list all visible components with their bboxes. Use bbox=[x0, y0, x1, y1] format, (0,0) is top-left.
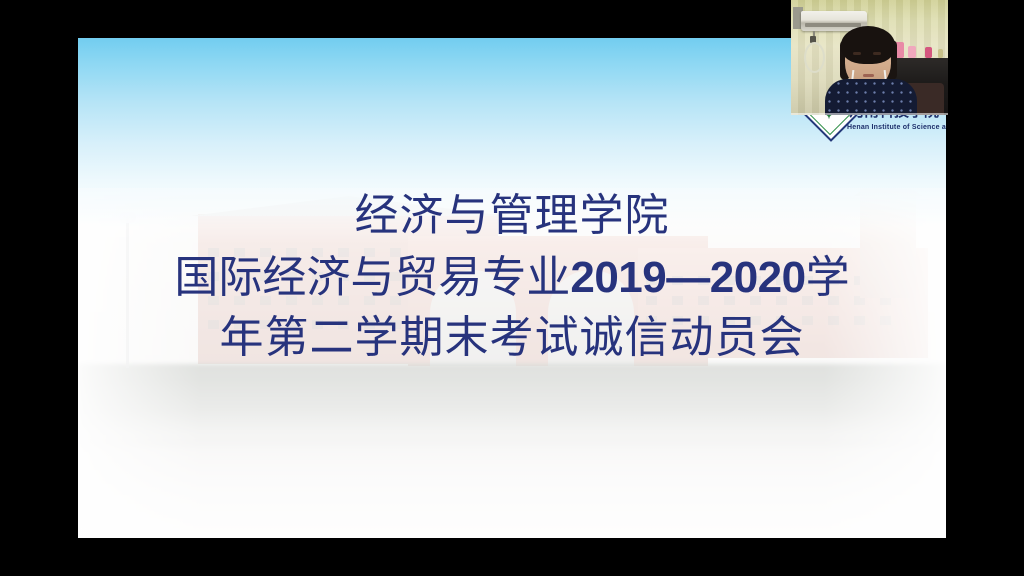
eye-left bbox=[853, 52, 861, 55]
hanging-hoop bbox=[804, 42, 825, 73]
presenter-hair bbox=[841, 26, 895, 64]
shelf-item bbox=[908, 46, 916, 58]
photo-fade-overlay bbox=[78, 188, 946, 538]
mouth bbox=[863, 74, 874, 77]
title-line-2-suffix: 学 bbox=[806, 253, 850, 302]
presenter-video-tile[interactable] bbox=[791, 0, 948, 115]
campus-building-photo bbox=[78, 188, 946, 538]
screen-share-view: 河南科技学院 Henan Institute of Science and Te… bbox=[0, 0, 1024, 576]
title-line-1: 经济与管理学院 bbox=[78, 194, 946, 238]
title-line-2: 国际经济与贸易专业2019—2020学 bbox=[78, 256, 946, 300]
title-academic-years: 2019—2020 bbox=[570, 253, 805, 302]
ac-vent bbox=[805, 23, 861, 27]
title-line-2-prefix: 国际经济与贸易专业 bbox=[174, 253, 570, 302]
shelf-item bbox=[925, 47, 932, 58]
presenter-shirt-pattern bbox=[825, 79, 917, 115]
logo-english-name: Henan Institute of Science and Technolog… bbox=[847, 124, 946, 131]
title-line-3: 年第二学期末考试诚信动员会 bbox=[78, 316, 946, 360]
shelf-item bbox=[938, 49, 943, 58]
eye-right bbox=[873, 52, 881, 55]
video-tile-border bbox=[791, 113, 948, 115]
